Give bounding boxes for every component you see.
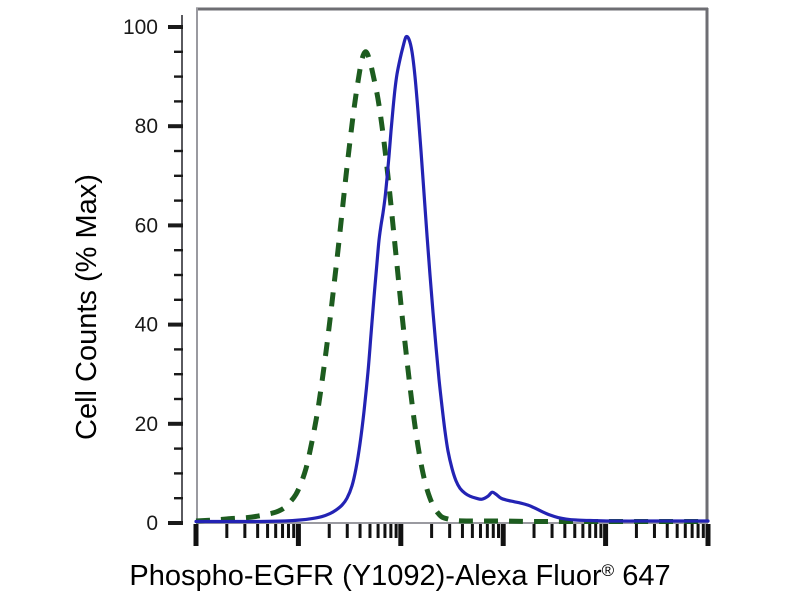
y-axis-tick-labels: 020406080100 <box>123 16 158 535</box>
x-axis-ticks <box>196 524 708 546</box>
y-tick-label: 20 <box>135 413 158 436</box>
x-axis-title: Phospho-EGFR (Y1092)-Alexa Fluor® 647 <box>129 560 670 592</box>
y-axis-ticks <box>168 27 183 523</box>
y-axis-title: Cell Counts (% Max) <box>71 174 103 440</box>
registered-trademark-icon: ® <box>602 561 615 580</box>
y-tick-label: 100 <box>123 16 158 39</box>
y-tick-label: 60 <box>135 214 158 237</box>
x-axis-title-tail: 647 <box>614 560 670 592</box>
plot-area-background <box>196 8 708 523</box>
y-tick-label: 80 <box>135 115 158 138</box>
y-tick-label: 40 <box>135 314 158 337</box>
histogram-chart: 020406080100 Cell Counts (% Max) Phospho… <box>0 0 800 600</box>
x-axis-title-main: Phospho-EGFR (Y1092)-Alexa Fluor <box>129 560 602 592</box>
y-tick-label: 0 <box>146 512 158 535</box>
flow-cytometry-figure: 020406080100 Cell Counts (% Max) Phospho… <box>0 0 800 600</box>
